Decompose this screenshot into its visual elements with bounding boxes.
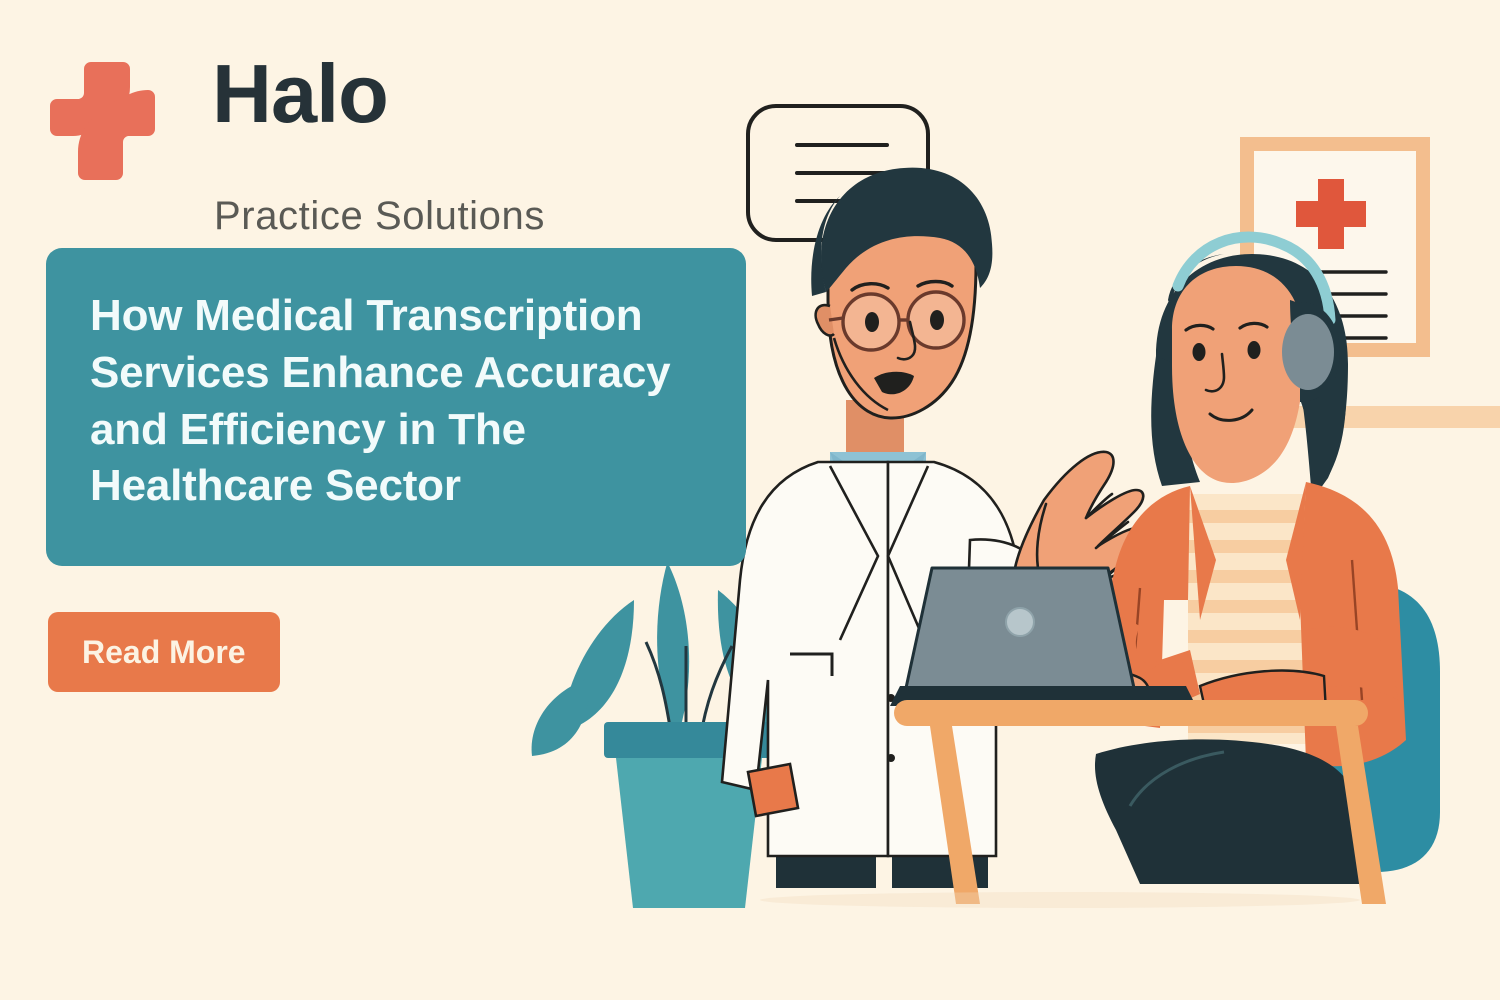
hero-title-banner: How Medical Transcription Services Enhan… bbox=[46, 248, 746, 566]
brand-tagline: Practice Solutions bbox=[214, 196, 545, 236]
brand-logo[interactable]: Halo Practice Solutions bbox=[44, 56, 564, 201]
hero-banner-canvas: Halo Practice Solutions How Medical Tran… bbox=[0, 0, 1500, 1000]
brand-name: Halo bbox=[212, 52, 388, 135]
page-title: How Medical Transcription Services Enhan… bbox=[90, 288, 702, 515]
halo-cross-icon bbox=[44, 56, 164, 186]
doctor-figure bbox=[722, 168, 1145, 888]
read-more-button[interactable]: Read More bbox=[48, 612, 280, 692]
